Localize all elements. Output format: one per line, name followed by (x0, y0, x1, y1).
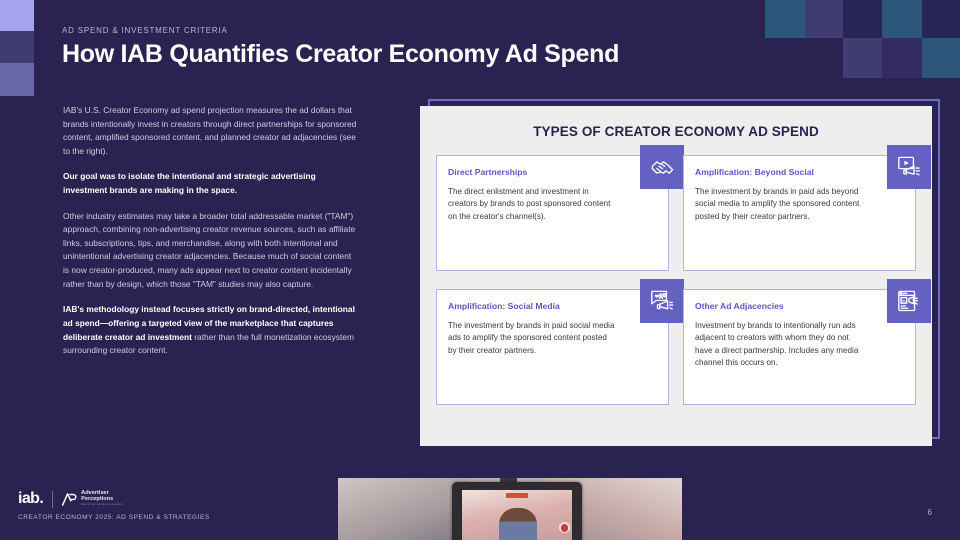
deco-block-left-3 (0, 63, 34, 96)
deco-block-tr-6 (843, 38, 882, 78)
handshake-icon (640, 145, 684, 189)
ap-mark-icon (62, 493, 77, 506)
footer-logo-row: iab. Advertiser Perceptions Marketing In… (18, 490, 210, 508)
paragraph-3: Other industry estimates may take a broa… (63, 210, 359, 292)
deco-block-left-2 (0, 31, 34, 63)
deco-block-tr-2 (805, 0, 843, 38)
photo-rec-badge (506, 493, 528, 498)
ad-browser-megaphone-icon: Ad (887, 279, 931, 323)
svg-text:Ad: Ad (901, 297, 906, 302)
page-number: 6 (928, 508, 932, 517)
panel-title: TYPES OF CREATOR ECONOMY AD SPEND (436, 124, 916, 139)
card-heading: Direct Partnerships (448, 167, 657, 177)
deco-block-tr-7 (882, 38, 922, 78)
paragraph-1: IAB's U.S. Creator Economy ad spend proj… (63, 104, 359, 158)
logo-divider (52, 491, 53, 508)
card-heading: Amplification: Beyond Social (695, 167, 904, 177)
ap-tagline: Marketing Intelligence Leaders (81, 504, 122, 507)
cards-grid: Direct Partnerships The direct enlistmen… (436, 155, 916, 405)
page-title: How IAB Quantifies Creator Economy Ad Sp… (62, 40, 619, 69)
footer-caption: CREATOR ECONOMY 2025: AD SPEND & STRATEG… (18, 514, 210, 521)
photo-phone (452, 482, 583, 540)
deco-block-tr-3 (843, 0, 882, 38)
social-megaphone-icon (640, 279, 684, 323)
card-amplification-social-media[interactable]: Amplification: Social Media The investme… (436, 289, 669, 405)
creator-recording-photo (338, 478, 682, 540)
photo-phone-screen (462, 490, 572, 540)
card-amplification-beyond-social[interactable]: Amplification: Beyond Social The investm… (683, 155, 916, 271)
eyebrow-label: AD SPEND & INVESTMENT CRITERIA (62, 26, 619, 35)
card-body: The direct enlistment and investment in … (448, 186, 657, 223)
card-body: The investment by brands in paid social … (448, 320, 657, 357)
deco-block-tr-5 (922, 0, 960, 38)
advertiser-perceptions-logo: Advertiser Perceptions Marketing Intelli… (62, 491, 122, 506)
types-panel: TYPES OF CREATOR ECONOMY AD SPEND Direct… (420, 106, 932, 446)
iab-logo: iab. (18, 490, 43, 508)
paragraph-4-methodology: IAB's methodology instead focuses strict… (63, 303, 359, 357)
paragraph-2-goal: Our goal was to isolate the intentional … (63, 170, 359, 197)
body-copy-column: IAB's U.S. Creator Economy ad spend proj… (63, 104, 359, 370)
video-megaphone-icon (887, 145, 931, 189)
deco-block-left-1 (0, 0, 34, 31)
ap-wordmark: Advertiser Perceptions Marketing Intelli… (81, 491, 122, 506)
card-body: The investment by brands in paid ads bey… (695, 186, 904, 223)
slide-header: AD SPEND & INVESTMENT CRITERIA How IAB Q… (62, 26, 619, 69)
photo-bg-left (338, 478, 469, 540)
deco-block-tr-8 (922, 38, 960, 78)
deco-block-tr-4 (882, 0, 922, 38)
card-direct-partnerships[interactable]: Direct Partnerships The direct enlistmen… (436, 155, 669, 271)
card-heading: Amplification: Social Media (448, 301, 657, 311)
photo-creator-subject (499, 508, 536, 540)
card-heading: Other Ad Adjacencies (695, 301, 904, 311)
card-other-ad-adjacencies[interactable]: Ad Other Ad Adjacencies Investment by br… (683, 289, 916, 405)
deco-block-tr-1 (765, 0, 805, 38)
footer: iab. Advertiser Perceptions Marketing In… (18, 490, 210, 521)
card-body: Investment by brands to intentionally ru… (695, 320, 904, 369)
photo-shutter-dot (561, 524, 569, 531)
